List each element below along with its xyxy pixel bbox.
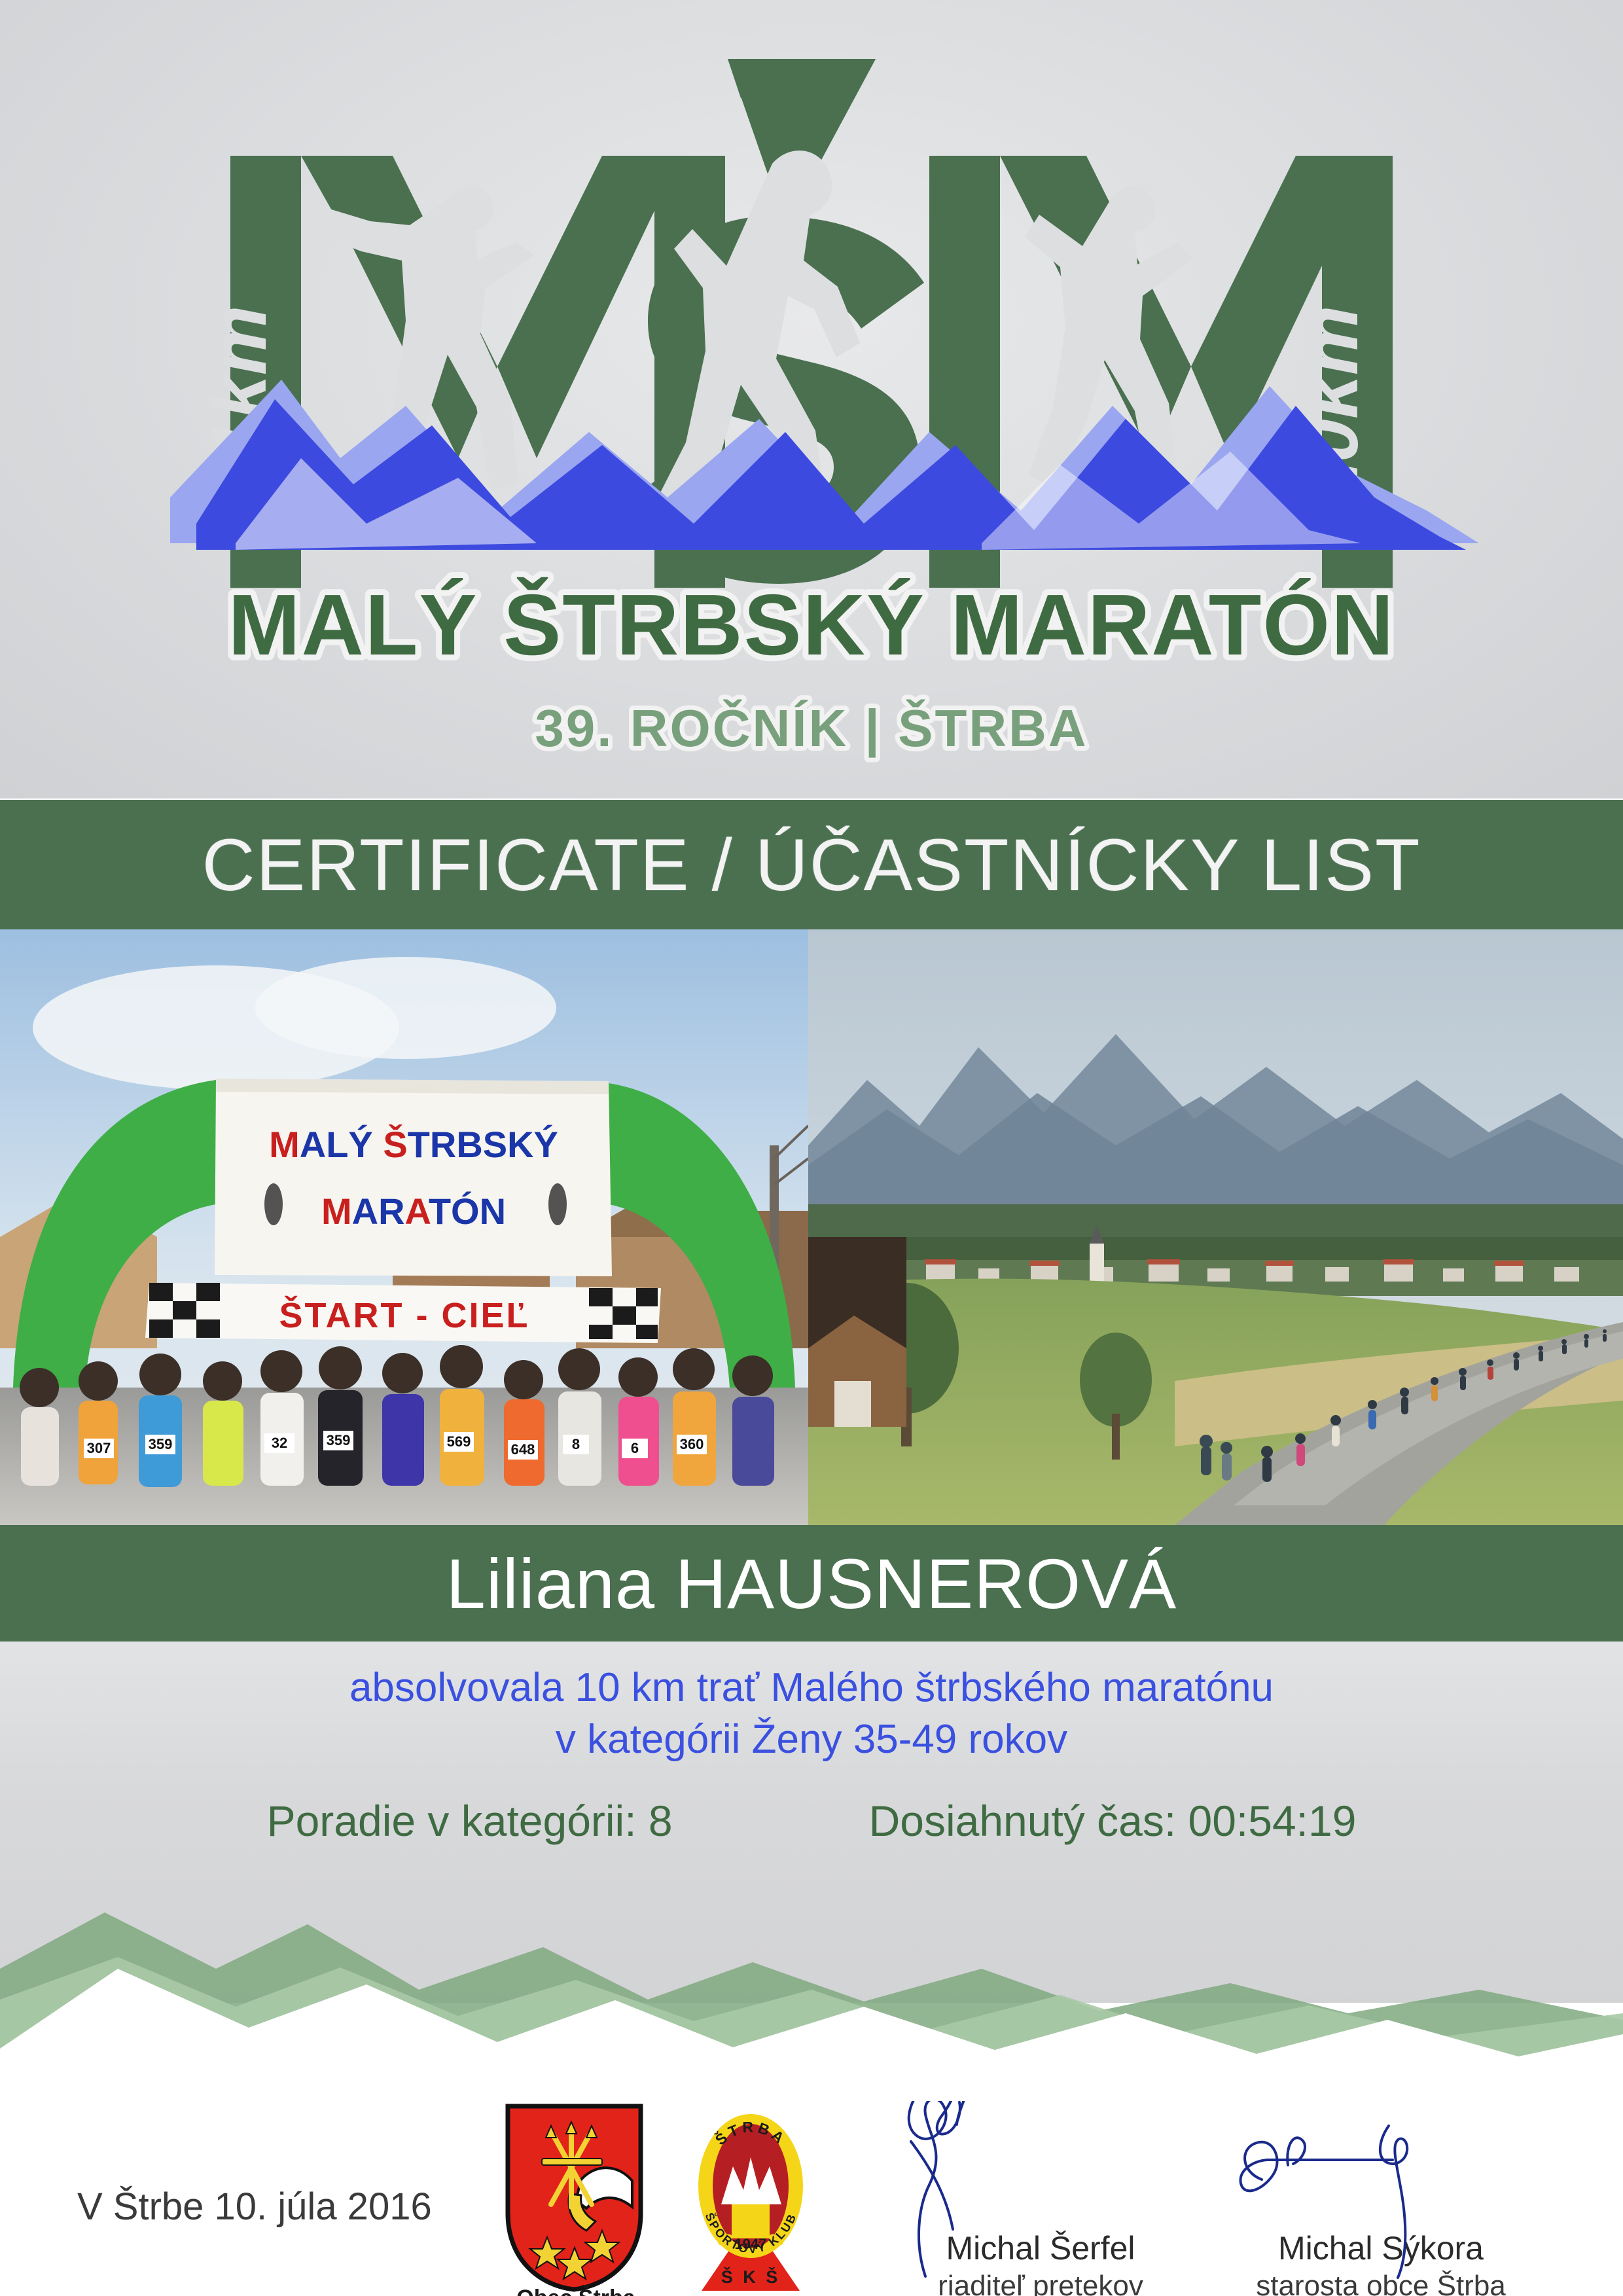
results-row: Poradie v kategórii: 8 Dosiahnutý čas: 0… <box>0 1796 1623 1846</box>
start-line-photo-graphic: MALÝ ŠTRBSKÝ MARATÓN <box>0 929 808 1525</box>
sks-initials-text: Š K Š <box>721 2267 781 2287</box>
arch-text-line3: ŠTART - CIEĽ <box>279 1295 530 1335</box>
bib-number: 569 <box>447 1433 471 1450</box>
participant-name: Liliana HAUSNEROVÁ <box>446 1543 1177 1624</box>
start-line-photo: MALÝ ŠTRBSKÝ MARATÓN <box>0 929 808 1525</box>
arch-text-line1: MALÝ ŠTRBSKÝ <box>269 1124 558 1165</box>
signature-block-2: Michal Sýkora starosta obce Štrba <box>1178 2068 1584 2296</box>
event-title-text: MALÝ ŠTRBSKÝ MARATÓN <box>228 577 1395 673</box>
category-rank: Poradie v kategórii: 8 <box>267 1796 673 1846</box>
msm-logo: 31km 10km <box>0 0 1623 798</box>
course-photo <box>808 929 1623 1525</box>
edition-line-text: 39. ROČNÍK | ŠTRBA <box>535 699 1088 758</box>
achievement-line-2: v kategórii Ženy 35-49 rokov <box>0 1714 1623 1766</box>
bib-number: 8 <box>572 1436 580 1452</box>
footer-date: V Štrbe 10. júla 2016 <box>77 2185 432 2229</box>
achievement-text: absolvovala 10 km trať Malého štrbského … <box>0 1662 1623 1765</box>
bib-number: 6 <box>631 1440 639 1456</box>
obec-strba-coat-of-arms-graphic <box>504 2102 645 2292</box>
bib-number: 648 <box>511 1441 535 1458</box>
photo-strip: MALÝ ŠTRBSKÝ MARATÓN <box>0 929 1623 1525</box>
logo-header: 31km 10km <box>0 0 1623 798</box>
certificate-title-band: CERTIFICATE / ÚČASTNÍCKY LIST <box>0 800 1623 929</box>
sks-strba-club-logo-graphic: ŠTRBA ŠPORTOVÝ KLUB 1947 Š K Š <box>681 2094 821 2296</box>
participant-name-band: Liliana HAUSNEROVÁ <box>0 1525 1623 1641</box>
bib-number: 32 <box>272 1435 287 1451</box>
sks-strba-club-logo: ŠTRBA ŠPORTOVÝ KLUB 1947 Š K Š <box>681 2094 821 2296</box>
course-photo-graphic <box>808 929 1623 1525</box>
arch-text-line2: MARATÓN <box>321 1191 506 1232</box>
obec-strba-label: Obec Štrba <box>458 2286 694 2296</box>
footer: V Štrbe 10. júla 2016 <box>0 2003 1623 2296</box>
bib-number: 360 <box>680 1436 704 1452</box>
obec-strba-coat-of-arms <box>504 2102 645 2292</box>
details-section: absolvovala 10 km trať Malého štrbského … <box>0 1641 1623 2008</box>
signature-2-graphic <box>1178 2068 1584 2278</box>
signature-2-image <box>1178 2068 1584 2225</box>
certificate-title: CERTIFICATE / ÚČASTNÍCKY LIST <box>202 823 1421 907</box>
achievement-line-1: absolvovala 10 km trať Malého štrbského … <box>0 1662 1623 1714</box>
bib-number: 359 <box>327 1432 351 1448</box>
finish-time: Dosiahnutý čas: 00:54:19 <box>869 1796 1357 1846</box>
wooden-shelter <box>808 1237 906 1427</box>
bib-number: 307 <box>87 1440 111 1456</box>
sks-year-text: 1947 <box>735 2236 767 2252</box>
msm-logo-graphic: 31km 10km <box>0 0 1623 798</box>
bib-number: 359 <box>149 1436 173 1452</box>
certificate-page: 31km 10km <box>0 0 1623 2296</box>
